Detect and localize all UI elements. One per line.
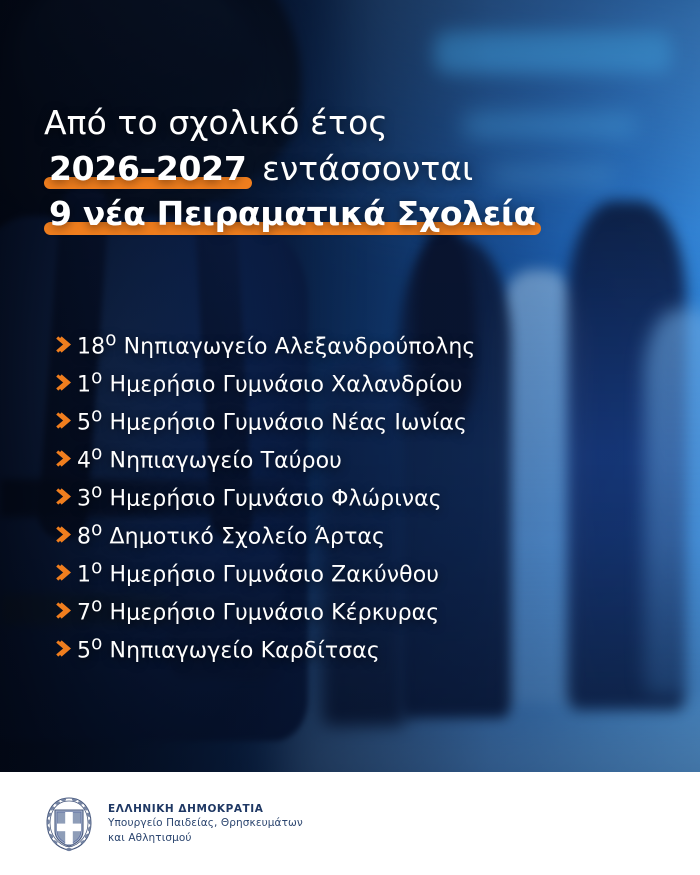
school-title: Νηπιαγωγείο Αλεξανδρούπολης <box>124 334 476 359</box>
school-title: Ημερήσιο Γυμνάσιο Κέρκυρας <box>110 600 440 625</box>
school-ordinal-suffix: ο <box>91 405 102 426</box>
headline: Από το σχολικό έτος 2026–2027 εντάσσοντα… <box>44 106 664 230</box>
ministry-name-line-2: και Αθλητισμού <box>108 831 303 845</box>
chevron-right-icon <box>56 373 77 392</box>
ministry-text: ΕΛΛΗΝΙΚΗ ΔΗΜΟΚΡΑΤΙΑ Υπουργείο Παιδείας, … <box>108 802 303 844</box>
school-name: 8ο Δημοτικό Σχολείο Άρτας <box>77 519 385 549</box>
school-year-highlight: 2026–2027 <box>44 152 252 185</box>
school-title: Ημερήσιο Γυμνάσιο Νέας Ιωνίας <box>110 410 468 435</box>
school-ordinal: 5 <box>77 410 91 435</box>
school-name: 4ο Νηπιαγωγείο Ταύρου <box>77 443 342 473</box>
school-title: Ημερήσιο Γυμνάσιο Φλώρινας <box>110 486 442 511</box>
school-ordinal: 1 <box>77 372 91 397</box>
chevron-right-icon <box>56 525 77 544</box>
footer-branding: ΕΛΛΗΝΙΚΗ ΔΗΜΟΚΡΑΤΙΑ Υπουργείο Παιδείας, … <box>44 795 303 853</box>
school-ordinal-suffix: ο <box>91 443 102 464</box>
school-ordinal: 18 <box>77 334 105 359</box>
school-name: 7ο Ημερήσιο Γυμνάσιο Κέρκυρας <box>77 595 439 625</box>
list-item: 4ο Νηπιαγωγείο Ταύρου <box>56 443 656 481</box>
school-ordinal-suffix: ο <box>91 519 102 540</box>
chevron-right-icon <box>56 335 77 354</box>
headline-line-3: 9 νέα Πειραματικά Σχολεία <box>44 197 664 230</box>
footer: ΕΛΛΗΝΙΚΗ ΔΗΜΟΚΡΑΤΙΑ Υπουργείο Παιδείας, … <box>0 772 700 875</box>
school-ordinal: 1 <box>77 562 91 587</box>
school-ordinal: 8 <box>77 524 91 549</box>
school-ordinal: 5 <box>77 638 91 663</box>
ministry-name-line-1: Υπουργείο Παιδείας, Θρησκευμάτων <box>108 816 303 830</box>
school-ordinal-suffix: ο <box>105 329 116 350</box>
school-ordinal: 4 <box>77 448 91 473</box>
school-name: 1ο Ημερήσιο Γυμνάσιο Ζακύνθου <box>77 557 439 587</box>
chevron-right-icon <box>56 449 77 468</box>
school-list: 18ο Νηπιαγωγείο Αλεξανδρούπολης1ο Ημερήσ… <box>56 329 656 671</box>
school-ordinal: 3 <box>77 486 91 511</box>
list-item: 8ο Δημοτικό Σχολείο Άρτας <box>56 519 656 557</box>
school-name: 5ο Ημερήσιο Γυμνάσιο Νέας Ιωνίας <box>77 405 467 435</box>
chevron-right-icon <box>56 601 77 620</box>
school-name: 1ο Ημερήσιο Γυμνάσιο Χαλανδρίου <box>77 367 463 397</box>
list-item: 1ο Ημερήσιο Γυμνάσιο Χαλανδρίου <box>56 367 656 405</box>
school-ordinal-suffix: ο <box>91 481 102 502</box>
school-ordinal-suffix: ο <box>91 557 102 578</box>
list-item: 3ο Ημερήσιο Γυμνάσιο Φλώρινας <box>56 481 656 519</box>
chevron-right-icon <box>56 563 77 582</box>
chevron-right-icon <box>56 411 77 430</box>
school-ordinal-suffix: ο <box>91 633 102 654</box>
school-title: Νηπιαγωγείο Ταύρου <box>110 448 342 473</box>
list-item: 5ο Ημερήσιο Γυμνάσιο Νέας Ιωνίας <box>56 405 656 443</box>
greek-republic-emblem-icon <box>44 795 94 853</box>
list-item: 1ο Ημερήσιο Γυμνάσιο Ζακύνθου <box>56 557 656 595</box>
school-ordinal-suffix: ο <box>91 367 102 388</box>
list-item: 18ο Νηπιαγωγείο Αλεξανδρούπολης <box>56 329 656 367</box>
ministry-republic-line: ΕΛΛΗΝΙΚΗ ΔΗΜΟΚΡΑΤΙΑ <box>108 802 303 816</box>
chevron-right-icon <box>56 487 77 506</box>
school-title: Δημοτικό Σχολείο Άρτας <box>110 524 386 549</box>
chevron-right-icon <box>56 639 77 658</box>
headline-line-2: 2026–2027 εντάσσονται <box>44 152 664 185</box>
list-item: 5ο Νηπιαγωγείο Καρδίτσας <box>56 633 656 671</box>
headline-line-1: Από το σχολικό έτος <box>44 106 664 139</box>
school-title: Ημερήσιο Γυμνάσιο Ζακύνθου <box>110 562 440 587</box>
school-ordinal-suffix: ο <box>91 595 102 616</box>
school-title: Νηπιαγωγείο Καρδίτσας <box>110 638 380 663</box>
school-ordinal: 7 <box>77 600 91 625</box>
school-title: Ημερήσιο Γυμνάσιο Χαλανδρίου <box>110 372 463 397</box>
list-item: 7ο Ημερήσιο Γυμνάσιο Κέρκυρας <box>56 595 656 633</box>
school-name: 18ο Νηπιαγωγείο Αλεξανδρούπολης <box>77 329 475 359</box>
school-name: 5ο Νηπιαγωγείο Καρδίτσας <box>77 633 380 663</box>
new-schools-highlight: 9 νέα Πειραματικά Σχολεία <box>44 197 541 230</box>
poster: Από το σχολικό έτος 2026–2027 εντάσσοντα… <box>0 0 700 875</box>
school-name: 3ο Ημερήσιο Γυμνάσιο Φλώρινας <box>77 481 442 511</box>
headline-line-2-rest: εντάσσονται <box>252 149 474 188</box>
